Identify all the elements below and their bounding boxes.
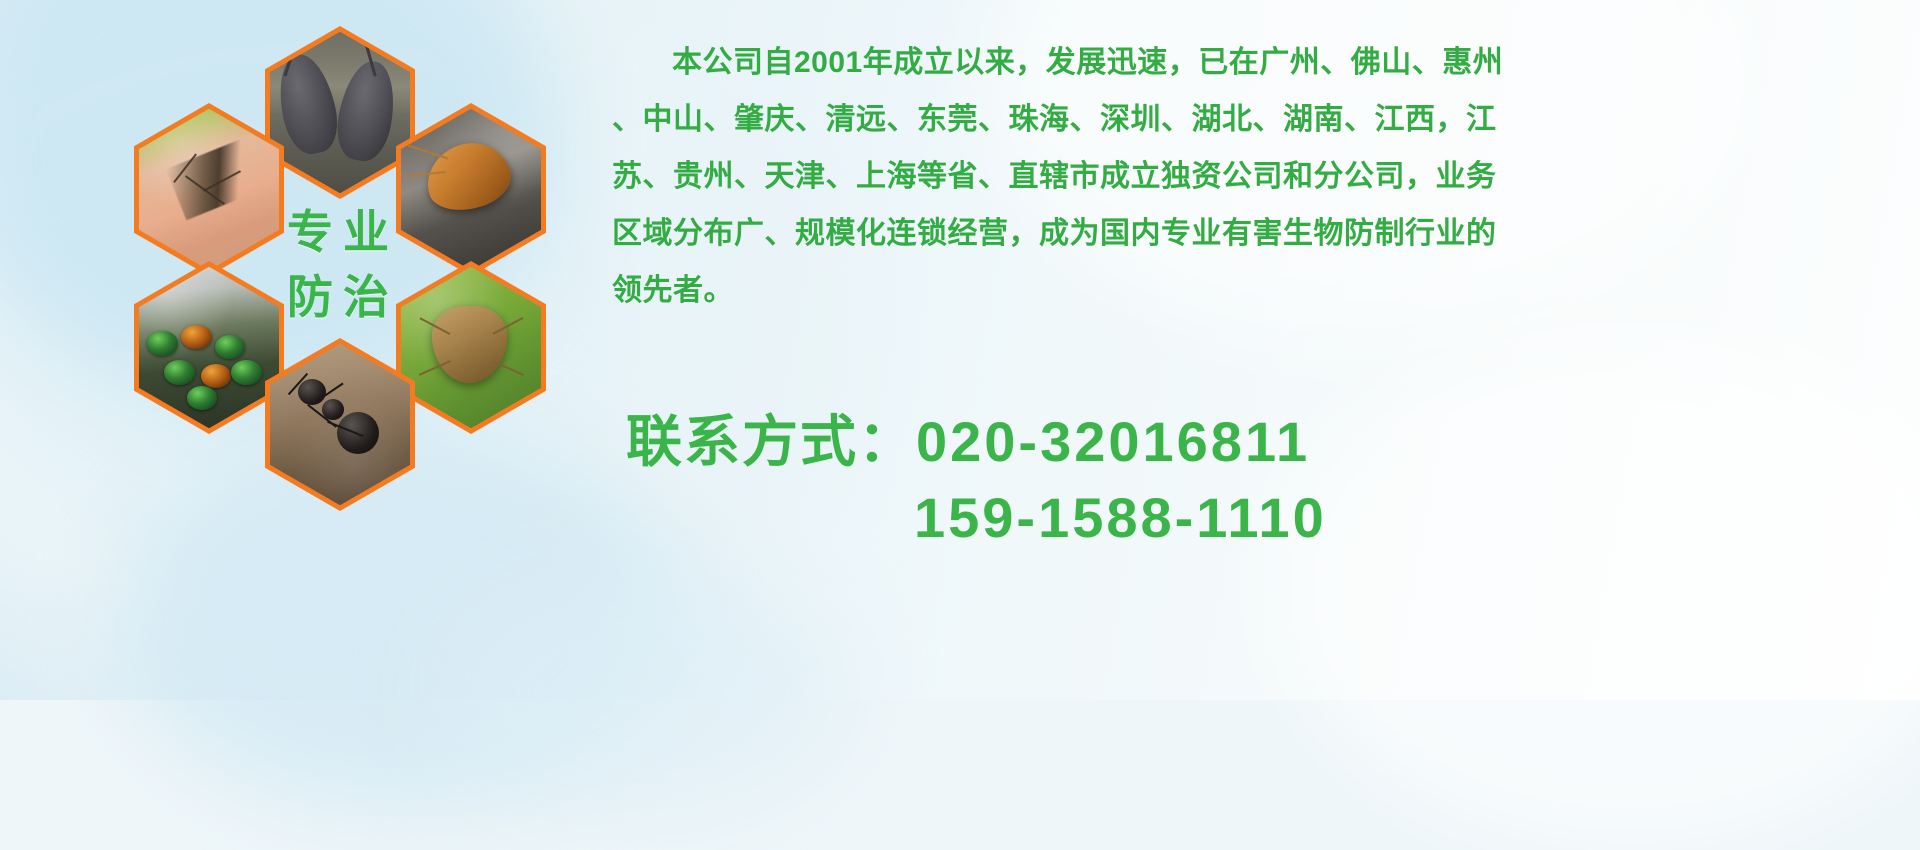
fly-6 <box>231 360 262 384</box>
fly-1 <box>147 331 178 355</box>
description-line-3: 苏、贵州、天津、上海等省、直辖市成立独资公司和分公司，业务 <box>612 148 1908 205</box>
contact-label: 联系方式： <box>626 410 916 473</box>
description-line-2: 、中山、肇庆、清远、东莞、珠海、深圳、湖北、湖南、江西，江 <box>612 91 1908 148</box>
contact-primary-line: 联系方式：020-32016811 <box>626 404 1916 480</box>
description-line-1: 本公司自2001年成立以来，发展迅速，已在广州、佛山、惠州 <box>612 34 1908 91</box>
contact-landline[interactable]: 020-32016811 <box>916 410 1310 473</box>
fly-4 <box>164 360 195 384</box>
description-line-4: 区域分布广、规模化连锁经营，成为国内专业有害生物防制行业的 <box>612 205 1908 262</box>
fly-2 <box>181 325 212 349</box>
promo-banner: 专业 防治 本公司自2001年成立以来，发展迅速，已在广州、佛山、惠州 、中山、… <box>0 0 1920 700</box>
rat-body-left <box>271 50 344 159</box>
cockroach-antenna-1 <box>407 144 448 159</box>
mosquito-body <box>165 136 266 219</box>
hexagon-image-cluster: 专业 防治 <box>80 8 600 568</box>
rats-image <box>270 32 410 193</box>
hex-photo-ant-mask <box>270 344 410 505</box>
fly-7 <box>187 386 218 410</box>
logo-slogan-line2: 防治 <box>258 265 428 330</box>
hex-photo-rats <box>265 26 415 199</box>
stink-bug-body <box>432 306 508 383</box>
ant-image <box>270 344 410 505</box>
cockroach-body <box>419 134 518 219</box>
logo-slogan: 专业 防治 <box>258 200 428 331</box>
contact-mobile[interactable]: 159-1588-1110 <box>914 486 1327 549</box>
company-description: 本公司自2001年成立以来，发展迅速，已在广州、佛山、惠州 、中山、肇庆、清远、… <box>612 34 1908 319</box>
contact-secondary-line: 159-1588-1110 <box>626 480 1916 556</box>
hex-photo-ant <box>265 338 415 511</box>
contact-block: 联系方式：020-32016811 159-1588-1110 <box>626 404 1916 556</box>
description-line-5: 领先者。 <box>612 262 1908 319</box>
hex-photo-rats-mask <box>270 32 410 193</box>
background-glow-5 <box>430 560 850 820</box>
rat-body-right <box>332 57 402 165</box>
fly-3 <box>215 335 246 359</box>
ant-head <box>298 379 326 405</box>
fly-5 <box>201 364 232 388</box>
logo-slogan-line1: 专业 <box>258 200 428 265</box>
